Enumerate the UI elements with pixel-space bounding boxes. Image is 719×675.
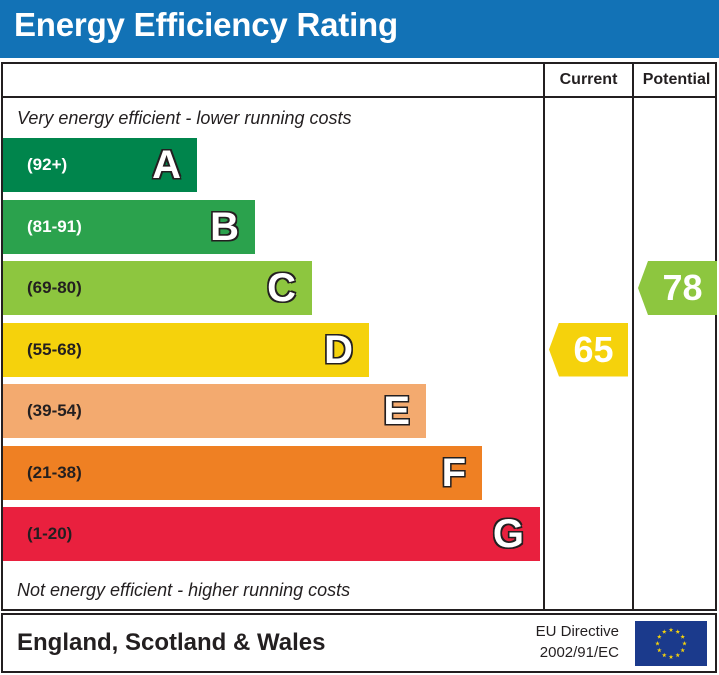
band-letter-b: B: [210, 200, 239, 254]
caption-not-efficient: Not energy efficient - higher running co…: [3, 569, 543, 611]
band-range-a: (92+): [27, 138, 67, 192]
footer-eu-directive: EU Directive 2002/91/EC: [499, 621, 619, 663]
rating-band-g: (1-20)G: [3, 507, 540, 561]
band-range-g: (1-20): [27, 507, 72, 561]
column-header-current: Current: [545, 64, 632, 96]
band-letter-e: E: [383, 384, 410, 438]
chart-frame: Current Potential Very energy efficient …: [1, 62, 717, 611]
column-header-row: Current Potential: [3, 64, 715, 98]
rating-badge-current: 65: [549, 323, 628, 377]
band-range-f: (21-38): [27, 446, 82, 500]
column-header-potential: Potential: [634, 64, 719, 96]
eu-directive-line2: 2002/91/EC: [499, 642, 619, 663]
page-title: Energy Efficiency Rating: [14, 6, 398, 44]
footer: England, Scotland & Wales EU Directive 2…: [1, 613, 717, 673]
column-divider-2: [632, 64, 634, 609]
rating-band-b: (81-91)B: [3, 200, 255, 254]
energy-efficiency-certificate: Energy Efficiency Rating Current Potenti…: [0, 0, 719, 675]
band-letter-d: D: [324, 323, 353, 377]
rating-badge-potential: 78: [638, 261, 717, 315]
band-range-b: (81-91): [27, 200, 82, 254]
rating-band-f: (21-38)F: [3, 446, 482, 500]
caption-very-efficient: Very energy efficient - lower running co…: [3, 98, 543, 138]
rating-band-d: (55-68)D: [3, 323, 369, 377]
footer-region-label: England, Scotland & Wales: [17, 615, 325, 671]
rating-band-e: (39-54)E: [3, 384, 426, 438]
band-letter-f: F: [442, 446, 466, 500]
band-range-d: (55-68): [27, 323, 82, 377]
chart-title-bar: Energy Efficiency Rating: [0, 0, 719, 58]
rating-band-c: (69-80)C: [3, 261, 312, 315]
band-letter-g: G: [493, 507, 524, 561]
rating-band-a: (92+)A: [3, 138, 197, 192]
band-range-c: (69-80): [27, 261, 82, 315]
band-range-e: (39-54): [27, 384, 82, 438]
eu-flag-icon: [635, 621, 707, 666]
eu-directive-line1: EU Directive: [499, 621, 619, 642]
column-divider-1: [543, 64, 545, 609]
rating-bands: (92+)A(81-91)B(69-80)C(55-68)D(39-54)E(2…: [3, 138, 543, 569]
band-letter-a: A: [152, 138, 181, 192]
band-letter-c: C: [267, 261, 296, 315]
